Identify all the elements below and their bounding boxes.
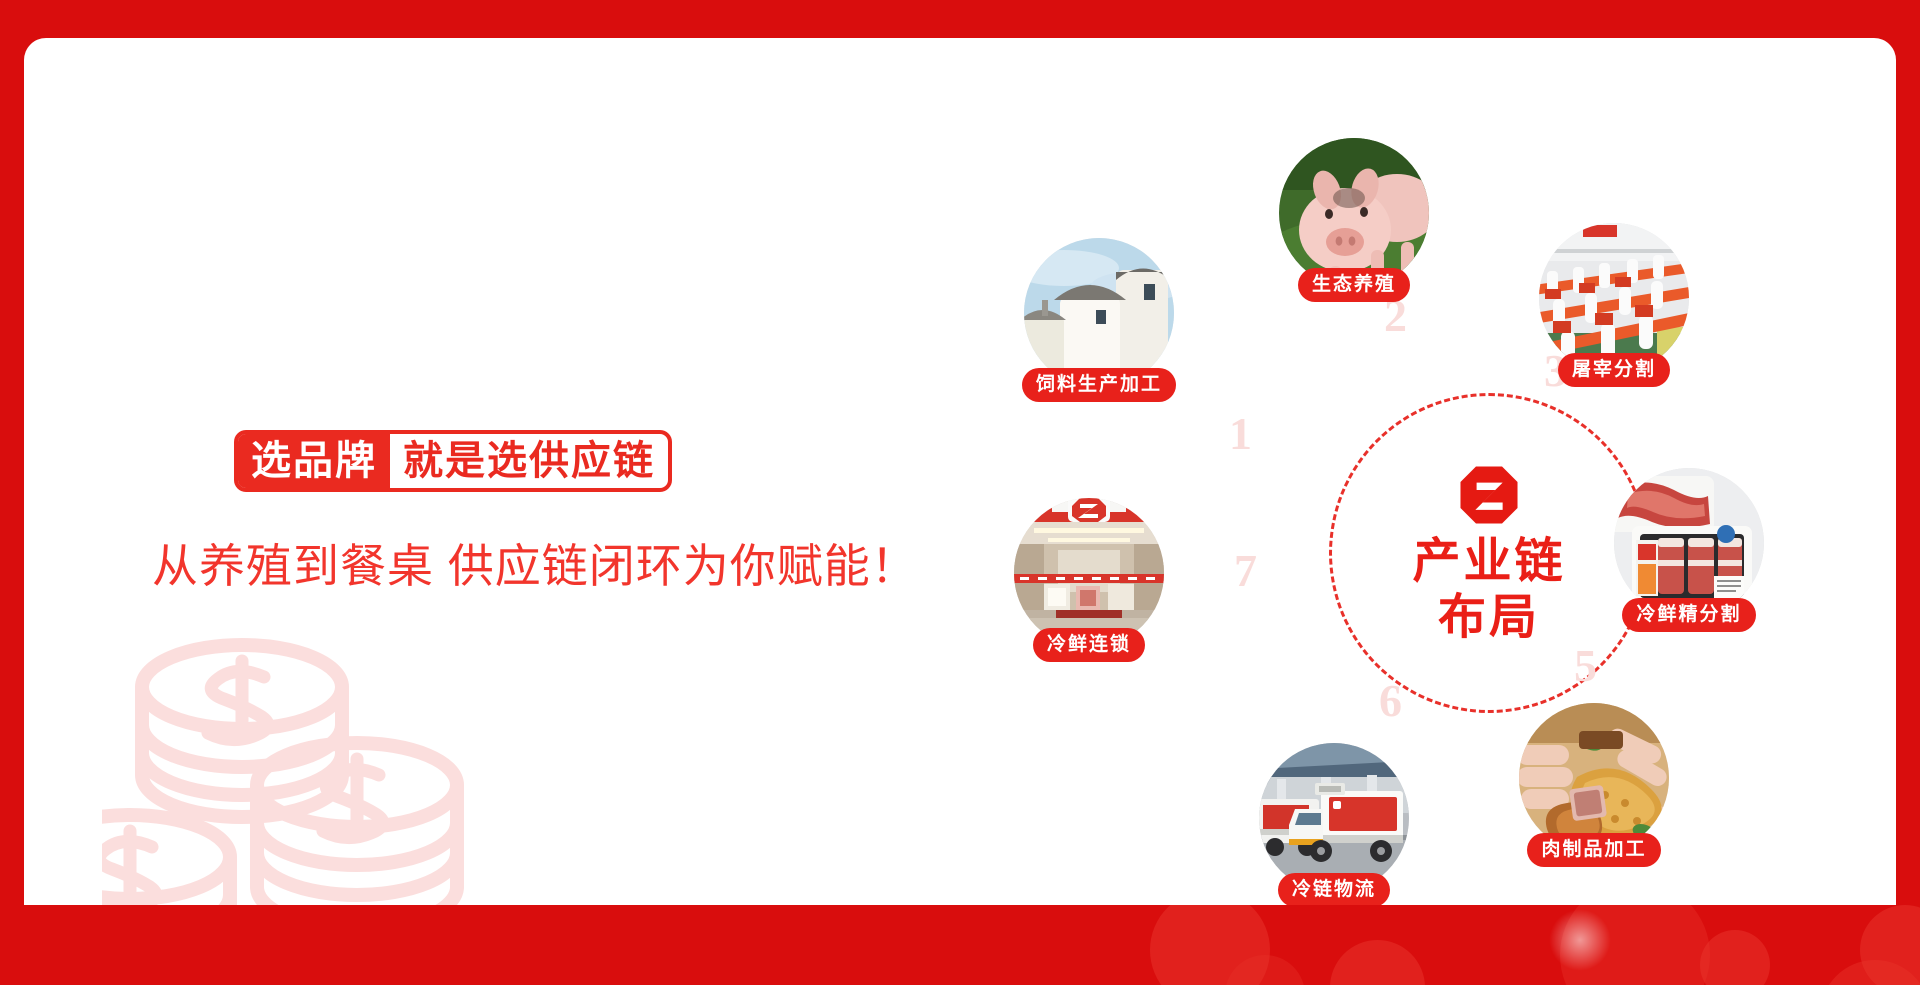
- chain-node-slaughter-cutting[interactable]: 屠宰分割: [1534, 223, 1694, 387]
- jinzhong-octagon-logo: [1458, 464, 1520, 526]
- wheel-number-1: 1: [1229, 411, 1252, 457]
- chain-node-label: 屠宰分割: [1558, 353, 1670, 387]
- wheel-number-6: 6: [1379, 678, 1402, 724]
- wheel-number-5: 5: [1574, 643, 1597, 689]
- headline-rest: 就是选供应链: [390, 434, 668, 488]
- chain-node-cold-chain-logistics[interactable]: 冷链物流: [1254, 743, 1414, 905]
- chain-node-fresh-chain-store[interactable]: 冷鲜连锁: [1009, 498, 1169, 662]
- light-flare: [1545, 905, 1615, 975]
- fresh-chain-store-photo: [1014, 498, 1164, 648]
- chilled-pork-tray-photo: [1614, 468, 1764, 618]
- chain-node-label: 冷链物流: [1278, 873, 1390, 905]
- page-subtitle: 从养殖到餐桌 供应链闭环为你赋能！: [152, 530, 918, 596]
- chain-node-ecological-breeding[interactable]: 生态养殖: [1274, 138, 1434, 302]
- chain-node-label: 冷鲜连锁: [1033, 628, 1145, 662]
- wheel-number-7: 7: [1234, 548, 1257, 594]
- wheel-center: 产业链 布局: [1329, 393, 1649, 713]
- chain-node-label: 肉制品加工: [1527, 833, 1660, 867]
- bokeh-circle: [1700, 930, 1770, 985]
- white-content-panel: 选品牌 就是选供应链 从养殖到餐桌 供应链闭环为你赋能！ 产业链 布局 1 2 …: [24, 38, 1896, 905]
- piglet-photo: [1279, 138, 1429, 288]
- chain-node-label: 饲料生产加工: [1022, 368, 1176, 402]
- refrigerated-truck-photo: [1259, 743, 1409, 893]
- slaughter-line-photo: [1539, 223, 1689, 373]
- chain-node-feed-production[interactable]: 饲料生产加工: [1019, 238, 1179, 402]
- chain-node-label: 生态养殖: [1298, 268, 1410, 302]
- coin-stack-icon: [102, 625, 522, 905]
- headline-highlight: 选品牌: [238, 434, 390, 488]
- center-title-line2: 布局: [1438, 594, 1540, 642]
- bokeh-circle: [1330, 940, 1425, 985]
- chain-node-label: 冷鲜精分割: [1622, 598, 1755, 632]
- page-headline: 选品牌 就是选供应链: [234, 430, 672, 492]
- chain-node-meat-products[interactable]: 肉制品加工: [1514, 703, 1674, 867]
- center-title-line1: 产业链: [1412, 538, 1565, 586]
- feed-silo-photo: [1024, 238, 1174, 388]
- sausage-products-photo: [1519, 703, 1669, 853]
- industry-chain-wheel: 产业链 布局 1 2 3 4 5 6 7: [1079, 143, 1839, 843]
- chain-node-chilled-fine-cutting[interactable]: 冷鲜精分割: [1609, 468, 1769, 632]
